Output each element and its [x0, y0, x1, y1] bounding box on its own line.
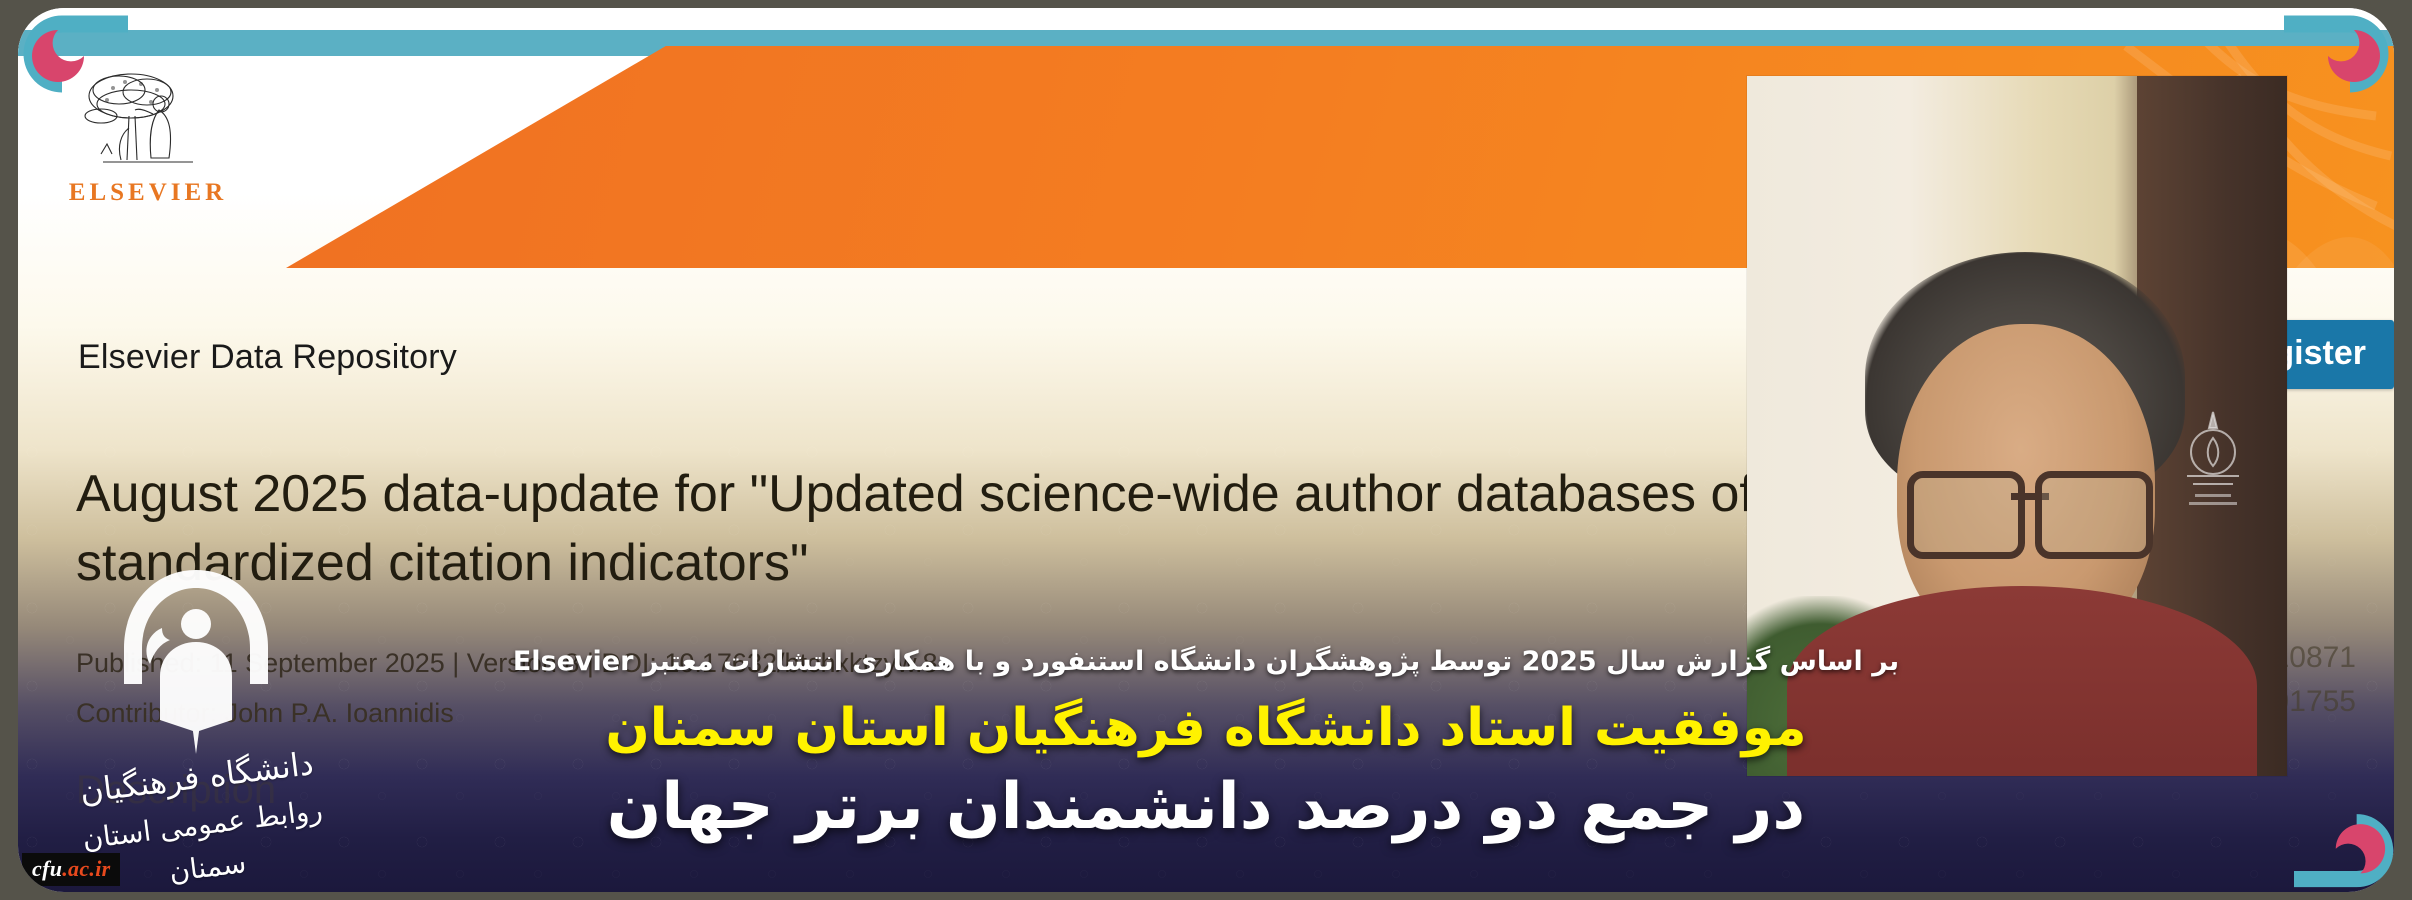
portrait-glasses	[1907, 471, 2153, 545]
overlay-headline-white: در جمع دو درصد دانشمندان برتر جهان	[18, 770, 2394, 844]
cfu-url-domain: .ac.ir	[62, 856, 110, 881]
news-banner: ELSEVIER Elsevier Data Repository August…	[0, 0, 2412, 900]
corner-swirl-logo-icon	[10, 2, 128, 120]
cfu-url-badge[interactable]: cfu.ac.ir	[22, 853, 120, 886]
overlay-subtitle: بر اساس گزارش سال 2025 توسط پژوهشگران دا…	[18, 646, 2394, 677]
elsevier-page-screenshot: ELSEVIER Elsevier Data Repository August…	[18, 8, 2394, 892]
elsevier-wordmark: ELSEVIER	[68, 179, 228, 207]
cfu-url-name: cfu	[32, 856, 62, 881]
corner-swirl-logo-icon	[2284, 2, 2402, 120]
corner-swirl-logo-icon	[2294, 788, 2406, 900]
repository-label: Elsevier Data Repository	[78, 338, 457, 377]
overlay-headline-yellow: موفقیت استاد دانشگاه فرهنگیان استان سمنا…	[18, 698, 2394, 758]
